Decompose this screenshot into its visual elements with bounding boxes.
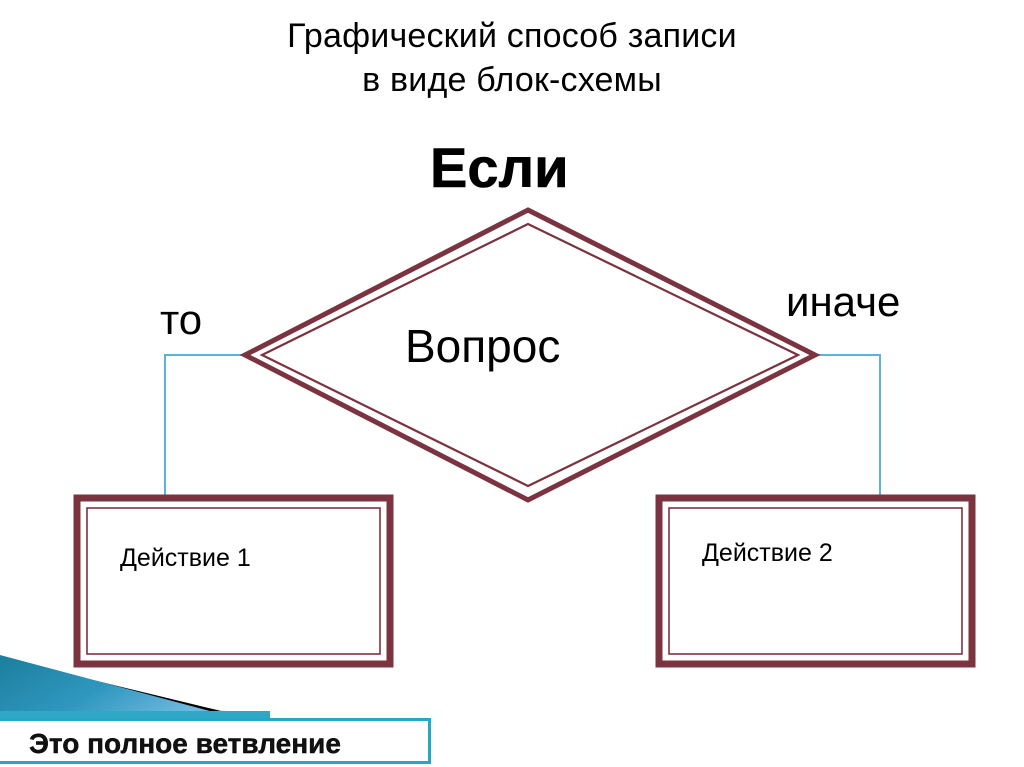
branch-label-true: то (160, 296, 202, 344)
branch-label-false: иначе (786, 278, 900, 326)
bottom-banner: Это полное ветвление (0, 718, 431, 764)
slide-canvas: Графический способ записи в виде блок-сх… (0, 0, 1024, 767)
action-box-1-label: Действие 1 (120, 543, 251, 573)
action-box-2[interactable] (659, 498, 972, 664)
action-box-1-outer (77, 498, 390, 664)
decision-label: Вопрос (405, 318, 560, 374)
action-box-2-outer (659, 498, 972, 664)
flowchart-diagram (0, 0, 1024, 767)
decision-top-caption: Если (430, 137, 569, 199)
action-box-2-label: Действие 2 (702, 538, 833, 568)
connector-false-branch (815, 355, 880, 498)
bottom-banner-text: Это полное ветвление (29, 727, 341, 761)
connector-true-branch (165, 355, 245, 498)
action-box-1[interactable] (77, 498, 390, 664)
